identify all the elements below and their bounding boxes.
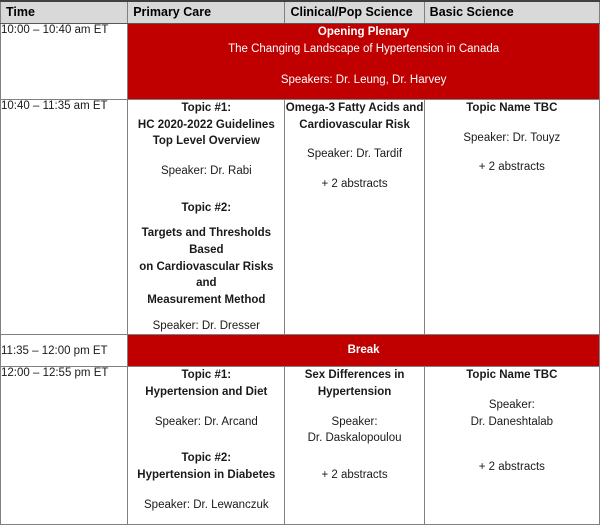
session-abstracts: + 2 abstracts bbox=[285, 176, 423, 193]
time-cell: 11:35 – 12:00 pm ET bbox=[1, 335, 128, 367]
session-cell-clinical-pop-science: Sex Differences in Hypertension Speaker:… bbox=[285, 367, 424, 525]
spacer bbox=[128, 150, 284, 163]
session-title: Topic Name TBC bbox=[425, 100, 599, 117]
session-cell-basic-science: Topic Name TBC Speaker: Dr. Touyz + 2 ab… bbox=[424, 100, 599, 335]
session-cell-primary-care: Topic #1: Hypertension and Diet Speaker:… bbox=[128, 367, 285, 525]
session-cell-basic-science: Topic Name TBC Speaker: Dr. Daneshtalab … bbox=[424, 367, 599, 525]
spacer bbox=[425, 117, 599, 130]
spacer bbox=[425, 384, 599, 397]
spacer bbox=[425, 430, 599, 450]
column-header-clinical-pop-science: Clinical/Pop Science bbox=[285, 1, 424, 24]
topic2-label: Topic #2: bbox=[128, 200, 284, 217]
topic2-label: Topic #2: bbox=[128, 450, 284, 467]
session-abstracts: + 2 abstracts bbox=[425, 159, 599, 176]
plenary-subtitle: The Changing Landscape of Hypertension i… bbox=[128, 41, 599, 58]
topic1-speaker: Speaker: Dr. Arcand bbox=[128, 414, 284, 431]
session-title: Topic Name TBC bbox=[425, 367, 599, 384]
session-speaker-line2: Dr. Daneshtalab bbox=[425, 414, 599, 431]
break-banner: Break bbox=[128, 335, 600, 367]
topic2-title-line1: Targets and Thresholds Based bbox=[128, 225, 284, 258]
topic1-title-line2: Top Level Overview bbox=[128, 133, 284, 150]
spacer bbox=[128, 309, 284, 318]
session-speaker: Speaker: Dr. Tardif bbox=[285, 146, 423, 163]
spacer bbox=[285, 133, 423, 146]
spacer bbox=[128, 484, 284, 497]
table-row: 12:00 – 12:55 pm ET Topic #1: Hypertensi… bbox=[1, 367, 600, 525]
topic2-title-line2: on Cardiovascular Risks and bbox=[128, 259, 284, 292]
time-cell: 10:40 – 11:35 am ET bbox=[1, 100, 128, 335]
topic1-label: Topic #1: bbox=[128, 100, 284, 117]
table-row: 10:40 – 11:35 am ET Topic #1: HC 2020-20… bbox=[1, 100, 600, 335]
break-label: Break bbox=[128, 342, 599, 359]
spacer bbox=[128, 216, 284, 225]
column-header-basic-science: Basic Science bbox=[424, 1, 599, 24]
spacer bbox=[128, 180, 284, 200]
session-speaker-line1: Speaker: bbox=[285, 414, 423, 431]
conference-schedule-table: Time Primary Care Clinical/Pop Science B… bbox=[0, 0, 600, 525]
topic1-label: Topic #1: bbox=[128, 367, 284, 384]
session-title-line1: Omega-3 Fatty Acids and bbox=[285, 100, 423, 117]
session-speaker-line2: Dr. Daskalopoulou bbox=[285, 430, 423, 447]
column-header-primary-care: Primary Care bbox=[128, 1, 285, 24]
spacer bbox=[285, 401, 423, 414]
session-speaker-line1: Speaker: bbox=[425, 397, 599, 414]
topic1-speaker: Speaker: Dr. Rabi bbox=[128, 163, 284, 180]
plenary-speakers: Speakers: Dr. Leung, Dr. Harvey bbox=[128, 72, 599, 89]
spacer bbox=[128, 430, 284, 450]
table-header-row: Time Primary Care Clinical/Pop Science B… bbox=[1, 1, 600, 24]
spacer bbox=[128, 401, 284, 414]
table-row: 11:35 – 12:00 pm ET Break bbox=[1, 335, 600, 367]
session-speaker: Speaker: Dr. Touyz bbox=[425, 130, 599, 147]
topic2-speaker: Speaker: Dr. Lewanczuk bbox=[128, 497, 284, 514]
session-cell-primary-care: Topic #1: HC 2020-2022 Guidelines Top Le… bbox=[128, 100, 285, 335]
topic2-title-line3: Measurement Method bbox=[128, 292, 284, 309]
opening-plenary-banner: Opening Plenary The Changing Landscape o… bbox=[128, 24, 600, 100]
topic2-title-line1: Hypertension in Diabetes bbox=[128, 467, 284, 484]
plenary-title: Opening Plenary bbox=[128, 24, 599, 41]
topic2-speaker: Speaker: Dr. Dresser bbox=[128, 318, 284, 335]
spacer bbox=[285, 447, 423, 467]
time-cell: 12:00 – 12:55 pm ET bbox=[1, 367, 128, 525]
session-title-line2: Hypertension bbox=[285, 384, 423, 401]
session-title-line2: Cardiovascular Risk bbox=[285, 117, 423, 134]
spacer bbox=[128, 59, 599, 72]
spacer bbox=[285, 163, 423, 176]
column-header-time: Time bbox=[1, 1, 128, 24]
session-cell-clinical-pop-science: Omega-3 Fatty Acids and Cardiovascular R… bbox=[285, 100, 424, 335]
topic1-title-line1: Hypertension and Diet bbox=[128, 384, 284, 401]
table-row: 10:00 – 10:40 am ET Opening Plenary The … bbox=[1, 24, 600, 100]
session-title-line1: Sex Differences in bbox=[285, 367, 423, 384]
session-abstracts: + 2 abstracts bbox=[425, 459, 599, 476]
spacer bbox=[425, 146, 599, 159]
session-abstracts: + 2 abstracts bbox=[285, 467, 423, 484]
time-cell: 10:00 – 10:40 am ET bbox=[1, 24, 128, 100]
topic1-title-line1: HC 2020-2022 Guidelines bbox=[128, 117, 284, 134]
spacer bbox=[425, 450, 599, 459]
